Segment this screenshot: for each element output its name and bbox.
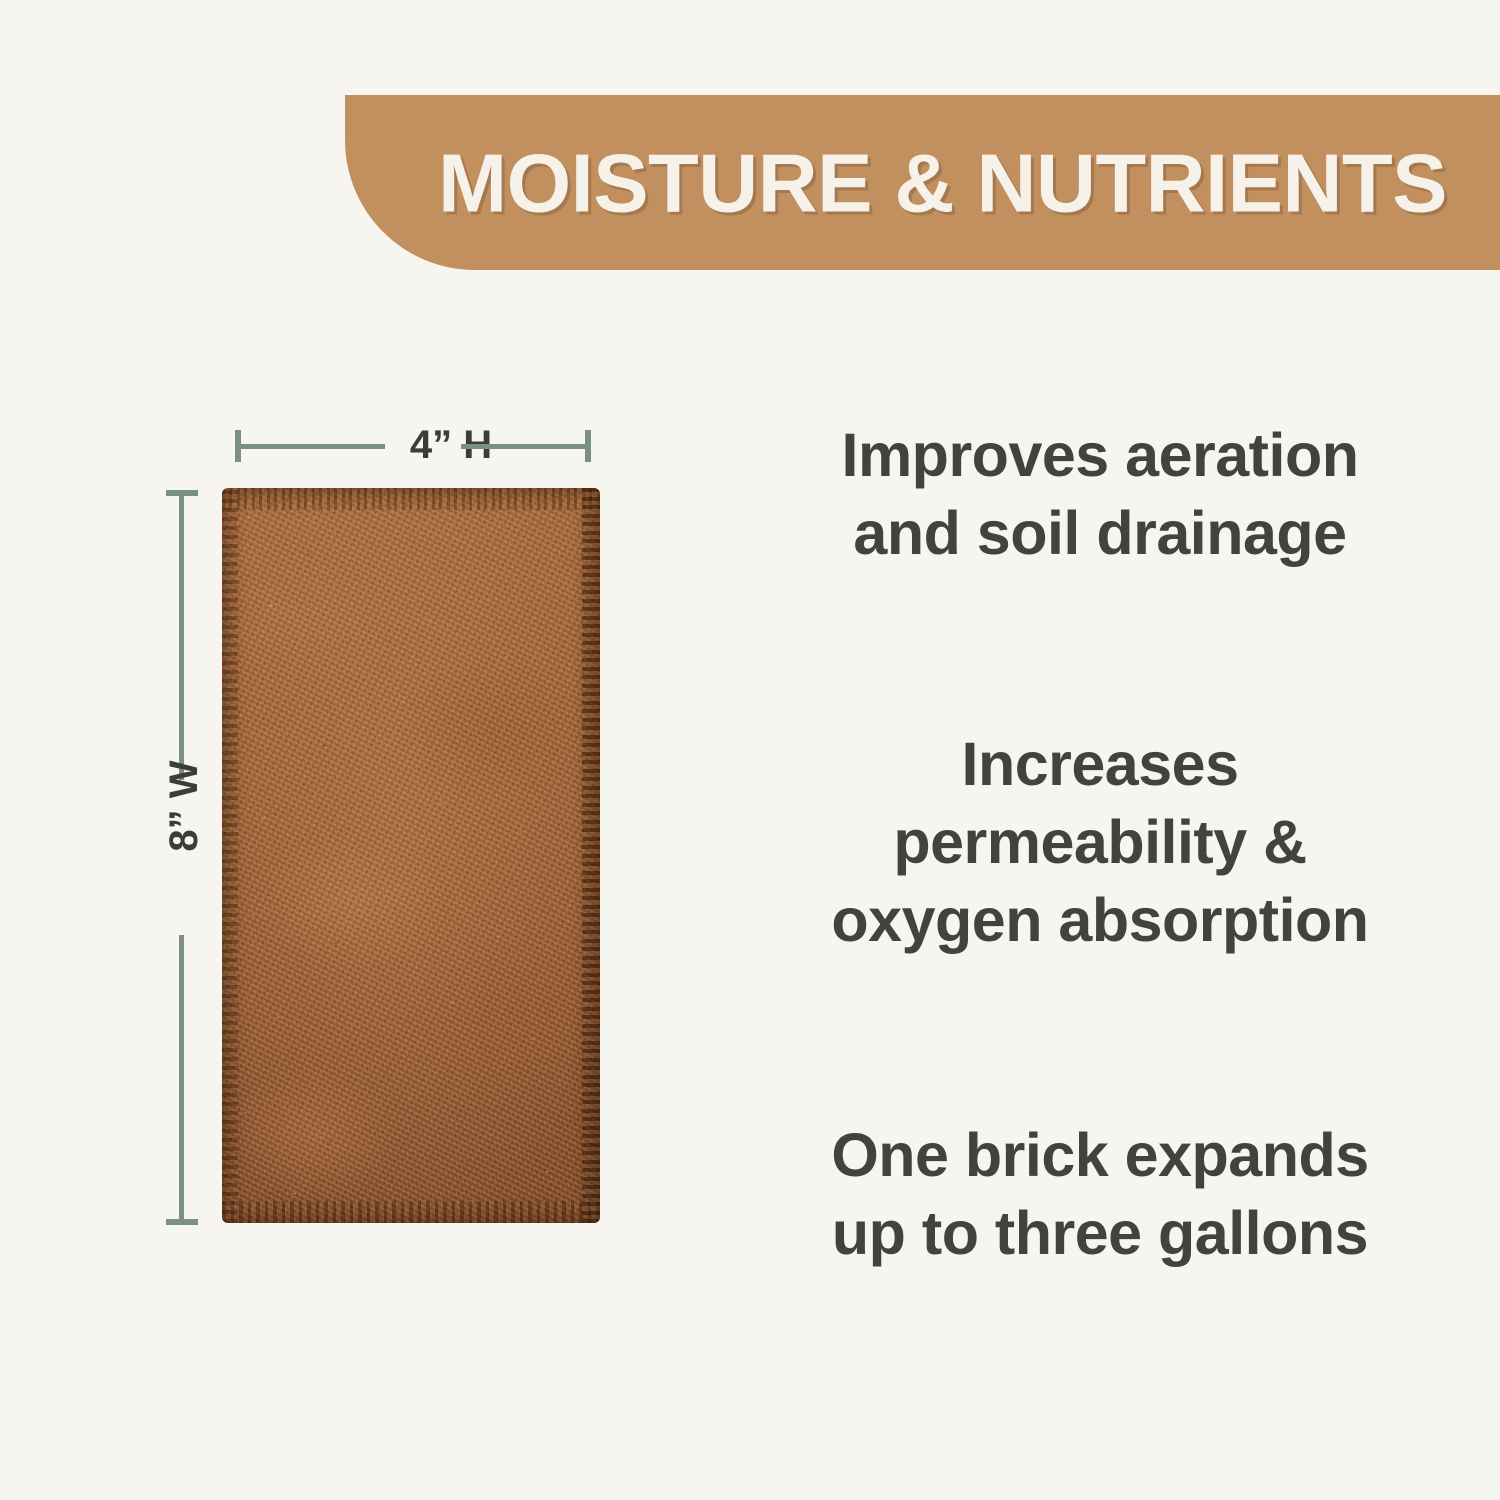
- benefit-line: oxygen absorption: [700, 881, 1500, 959]
- benefit-line: permeability &: [700, 803, 1500, 881]
- benefit-line: up to three gallons: [700, 1194, 1500, 1272]
- brick-top-edge: [222, 488, 600, 510]
- benefit-line: Improves aeration: [700, 416, 1500, 494]
- dimension-cap-bottom-icon: [166, 1219, 198, 1225]
- dimension-vertical-label: 8” W: [160, 726, 208, 886]
- dimension-line-left: [235, 444, 385, 449]
- brick-right-edge: [582, 488, 600, 1223]
- brick-left-edge: [222, 488, 238, 1223]
- brick-bottom-edge: [222, 1201, 600, 1223]
- coir-brick-image: [222, 488, 600, 1223]
- dimension-line-right: [461, 444, 591, 449]
- dimension-horizontal: 4” H: [235, 430, 591, 462]
- benefits-list: Improves aerationand soil drainage Incre…: [700, 0, 1500, 1500]
- benefit-item: Increasespermeability &oxygen absorption: [700, 725, 1500, 959]
- dimension-cap-right-icon: [585, 430, 591, 462]
- dimension-vertical: 8” W: [166, 490, 198, 1225]
- benefit-line: One brick expands: [700, 1116, 1500, 1194]
- benefit-line: and soil drainage: [700, 494, 1500, 572]
- benefit-item: One brick expandsup to three gallons: [700, 1116, 1500, 1272]
- dimension-line-bottom: [179, 935, 184, 1225]
- benefit-line: Increases: [700, 725, 1500, 803]
- benefit-item: Improves aerationand soil drainage: [700, 416, 1500, 572]
